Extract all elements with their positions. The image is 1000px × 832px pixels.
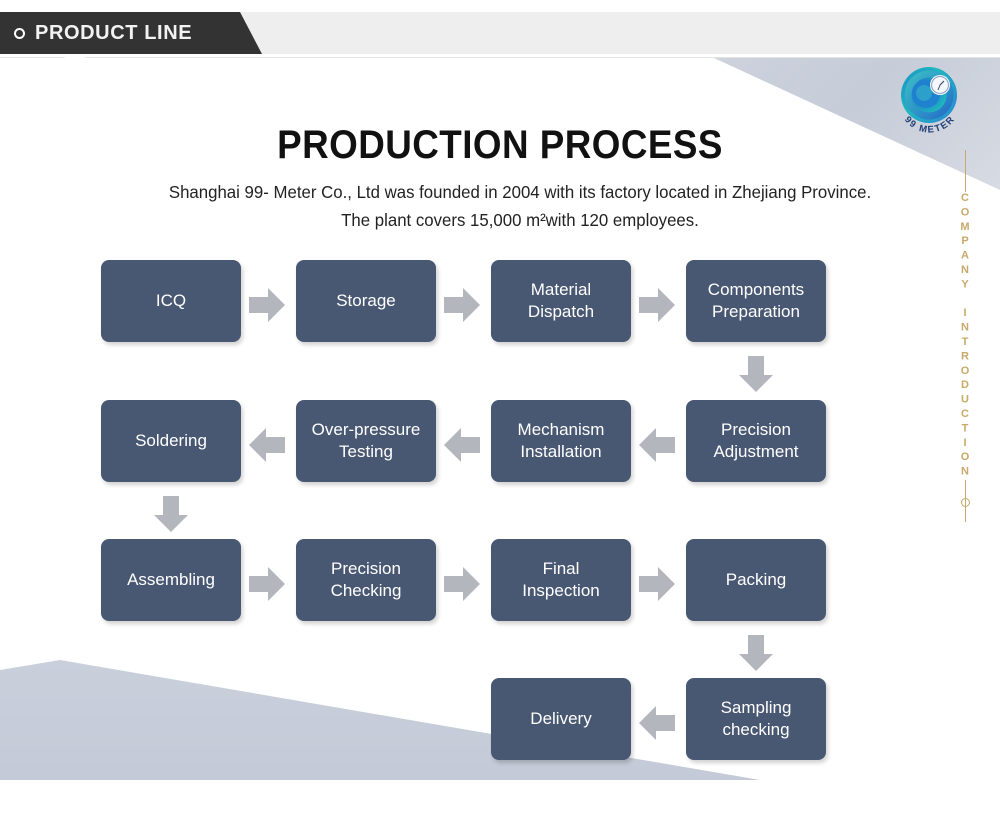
flow-node-mechanism-installation[interactable]: MechanismInstallation [491, 400, 631, 482]
flow-node-components-preparation[interactable]: ComponentsPreparation [686, 260, 826, 342]
flow-node-precision-checking[interactable]: PrecisionChecking [296, 539, 436, 621]
flow-node-storage[interactable]: Storage [296, 260, 436, 342]
arrow-right-icon [444, 288, 480, 322]
flow-node-icq[interactable]: ICQ [101, 260, 241, 342]
flow-node-final-inspection[interactable]: FinalInspection [491, 539, 631, 621]
flow-node-over-pressure-testing[interactable]: Over-pressureTesting [296, 400, 436, 482]
flow-node-assembling[interactable]: Assembling [101, 539, 241, 621]
flow-node-soldering[interactable]: Soldering [101, 400, 241, 482]
arrow-down-icon [154, 496, 188, 532]
arrow-left-icon [639, 706, 675, 740]
arrow-left-icon [444, 428, 480, 462]
flow-node-precision-adjustment[interactable]: PrecisionAdjustment [686, 400, 826, 482]
arrow-down-icon [739, 356, 773, 392]
flow-node-delivery[interactable]: Delivery [491, 678, 631, 760]
arrow-right-icon [249, 288, 285, 322]
arrow-left-icon [249, 428, 285, 462]
arrow-right-icon [639, 567, 675, 601]
process-flow-diagram: ICQ Storage MaterialDispatch ComponentsP… [0, 0, 1000, 832]
arrow-right-icon [444, 567, 480, 601]
slide-canvas: PRODUCT LINE [0, 0, 1000, 832]
arrow-left-icon [639, 428, 675, 462]
arrow-right-icon [249, 567, 285, 601]
flow-node-sampling-checking[interactable]: Samplingchecking [686, 678, 826, 760]
flow-node-packing[interactable]: Packing [686, 539, 826, 621]
arrow-down-icon [739, 635, 773, 671]
arrow-right-icon [639, 288, 675, 322]
flow-node-material-dispatch[interactable]: MaterialDispatch [491, 260, 631, 342]
